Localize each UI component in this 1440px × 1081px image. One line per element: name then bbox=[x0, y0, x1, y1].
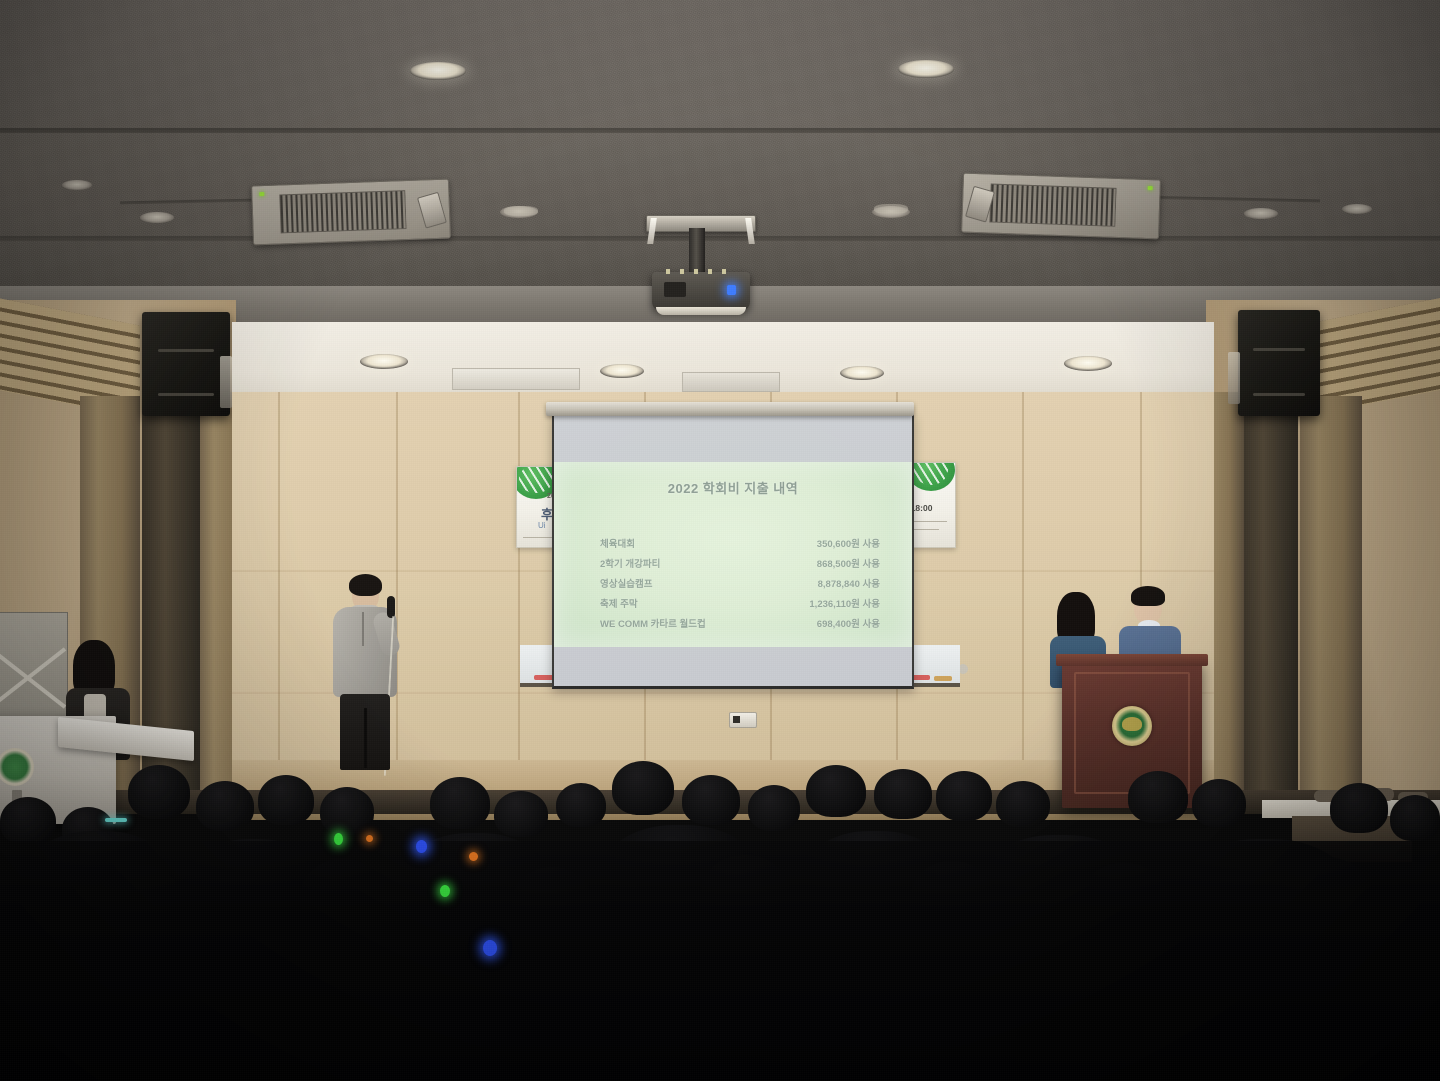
ac-status-led bbox=[259, 192, 264, 196]
audience-head bbox=[400, 931, 520, 1035]
ac-vane bbox=[417, 192, 447, 229]
audience-head bbox=[700, 855, 790, 935]
device-led bbox=[469, 852, 478, 861]
ac-grille bbox=[280, 190, 407, 233]
audience-head bbox=[1080, 863, 1168, 939]
ceiling-downlight bbox=[1342, 204, 1372, 214]
wood-panel-seam bbox=[518, 392, 520, 792]
ceiling-downlight bbox=[410, 62, 466, 80]
poster-left-subline: Ui bbox=[538, 521, 546, 530]
wall-power-outlet[interactable] bbox=[729, 712, 757, 728]
audience-shoulders bbox=[800, 831, 950, 937]
wooden-podium[interactable] bbox=[1062, 660, 1202, 808]
university-emblem-icon bbox=[1112, 706, 1152, 746]
projector-power-led bbox=[727, 285, 736, 295]
presenter-leg-gap bbox=[364, 708, 367, 768]
person-hair bbox=[1131, 586, 1165, 606]
pa-speaker-side-panel bbox=[220, 356, 232, 408]
device-led bbox=[334, 833, 343, 845]
expense-label: 2학기 개강파티 bbox=[600, 556, 750, 570]
audience-shoulders bbox=[600, 825, 760, 935]
device-led bbox=[440, 885, 450, 897]
audience-head bbox=[300, 859, 386, 935]
audience-head bbox=[1280, 857, 1372, 935]
table-object[interactable] bbox=[1398, 792, 1428, 803]
slide-row: 영상실습캠프 8,878,840 사용 bbox=[600, 576, 896, 596]
whiteboard-marker[interactable] bbox=[934, 676, 952, 681]
expense-value: 868,500원 사용 bbox=[750, 556, 896, 570]
stage-downlight bbox=[360, 354, 408, 369]
side-table-base bbox=[1292, 816, 1412, 862]
auditorium-photo: 20 후 Ui 0~18:00 2022 학회비 지출 내역 체육대회 350,… bbox=[0, 0, 1440, 1081]
expense-label: 영상실습캠프 bbox=[600, 576, 750, 590]
table-object[interactable] bbox=[1314, 790, 1348, 802]
pa-speaker-left bbox=[142, 312, 230, 416]
pa-speaker-right bbox=[1238, 310, 1320, 416]
table-object[interactable] bbox=[1352, 788, 1394, 801]
ceiling-reveal-line bbox=[0, 128, 1440, 133]
standing-presenter bbox=[330, 578, 420, 778]
expense-label: WE COMM 카타르 월드컵 bbox=[600, 616, 750, 630]
ac-grille bbox=[990, 184, 1117, 227]
audience-shoulders bbox=[980, 835, 1140, 939]
audience-head bbox=[610, 923, 736, 1031]
audience-head bbox=[10, 925, 120, 1021]
audience-foreground bbox=[0, 841, 1440, 1081]
expense-value: 350,600원 사용 bbox=[750, 536, 896, 550]
audience-shoulders bbox=[400, 833, 550, 937]
expense-value: 8,878,840 사용 bbox=[750, 576, 896, 590]
projection-screen: 2022 학회비 지출 내역 체육대회 350,600원 사용 2학기 개강파티… bbox=[552, 414, 914, 689]
ceiling-ac-unit bbox=[961, 173, 1161, 240]
wood-panel-seam bbox=[278, 392, 280, 792]
projector-icon bbox=[652, 272, 750, 311]
slide-row: 체육대회 350,600원 사용 bbox=[600, 536, 896, 556]
expense-value: 698,400원 사용 bbox=[750, 616, 896, 630]
ceiling-downlight bbox=[62, 180, 92, 190]
projector-bracket-bolts bbox=[666, 269, 736, 274]
fleece-zipper bbox=[362, 612, 364, 646]
pa-speaker-side-panel bbox=[1228, 352, 1240, 404]
audience-head bbox=[1250, 933, 1380, 1039]
slide-expense-list: 체육대회 350,600원 사용 2학기 개강파티 868,500원 사용 영상… bbox=[600, 536, 896, 636]
ceiling-reveal-line bbox=[0, 236, 1440, 241]
device-led bbox=[366, 835, 373, 842]
device-led bbox=[483, 940, 497, 956]
audience-shoulders bbox=[24, 831, 174, 931]
slide-row: WE COMM 카타르 월드컵 698,400원 사용 bbox=[600, 616, 896, 636]
stage-downlight bbox=[840, 366, 884, 380]
audience-head bbox=[100, 865, 182, 937]
ceiling-vent bbox=[504, 206, 538, 216]
wall-pillar bbox=[1240, 400, 1298, 800]
device-led bbox=[416, 840, 427, 853]
expense-label: 체육대회 bbox=[600, 536, 750, 550]
back-wall-vent bbox=[682, 372, 780, 392]
stage-downlight bbox=[1064, 356, 1112, 371]
wood-panel-seam bbox=[1022, 392, 1024, 792]
ac-status-led bbox=[1148, 186, 1153, 190]
projector-lens bbox=[664, 282, 686, 297]
slide-title: 2022 학회비 지출 내역 bbox=[554, 478, 912, 497]
microphone-icon[interactable] bbox=[387, 596, 395, 618]
ceiling-downlight bbox=[898, 60, 954, 78]
podium-top bbox=[1056, 654, 1208, 666]
audience-head bbox=[512, 867, 592, 937]
ceiling-downlight bbox=[140, 212, 174, 223]
audience-head bbox=[830, 931, 950, 1035]
audience-shoulders bbox=[184, 839, 324, 939]
stage-front-edge bbox=[0, 790, 1440, 814]
audience-head bbox=[190, 935, 306, 1035]
expense-value: 1,236,110원 사용 bbox=[750, 596, 896, 610]
wall-pillar bbox=[1300, 396, 1362, 796]
back-wall-vent bbox=[452, 368, 580, 390]
ceiling-vent bbox=[874, 204, 908, 214]
presenter-hair bbox=[349, 574, 382, 596]
leaf-logo-icon bbox=[907, 462, 955, 491]
ceiling-downlight bbox=[1244, 208, 1278, 219]
audience-head bbox=[910, 861, 994, 935]
stage-downlight bbox=[600, 364, 644, 378]
expense-label: 축제 주막 bbox=[600, 596, 750, 610]
screen-housing[interactable] bbox=[546, 402, 914, 416]
ceiling-ac-unit bbox=[251, 179, 451, 246]
audience-head bbox=[1030, 927, 1156, 1033]
control-desk-vent bbox=[12, 790, 22, 804]
slide-surface: 2022 학회비 지출 내역 체육대회 350,600원 사용 2학기 개강파티… bbox=[554, 462, 912, 647]
slide-row: 축제 주막 1,236,110원 사용 bbox=[600, 596, 896, 616]
slide-row: 2학기 개강파티 868,500원 사용 bbox=[600, 556, 896, 576]
